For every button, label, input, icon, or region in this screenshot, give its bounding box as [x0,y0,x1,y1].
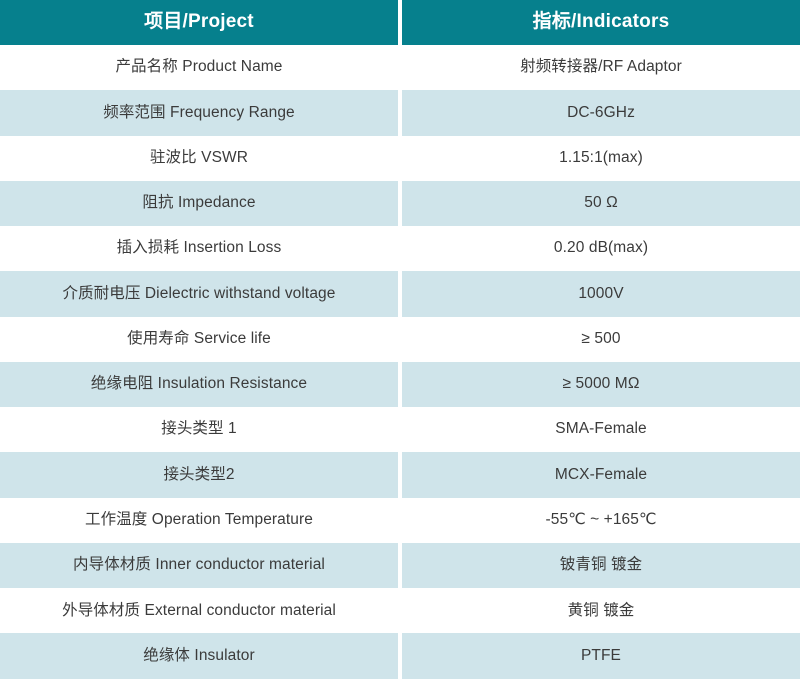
row-indicator-value: PTFE [402,633,800,678]
row-project-label: 接头类型 1 [0,407,398,452]
row-indicator-value: ≥ 5000 MΩ [402,362,800,407]
row-indicator-value: 1.15:1(max) [402,136,800,181]
table-row: 产品名称 Product Name 射频转接器/RF Adaptor [0,45,800,90]
row-project-label: 工作温度 Operation Temperature [0,498,398,543]
specification-table: 项目/Project 指标/Indicators 产品名称 Product Na… [0,0,800,679]
row-project-label: 插入损耗 Insertion Loss [0,226,398,271]
table-row: 频率范围 Frequency Range DC-6GHz [0,90,800,135]
row-indicator-value: 黄铜 镀金 [402,588,800,633]
table-row: 内导体材质 Inner conductor material 铍青铜 镀金 [0,543,800,588]
table-row: 接头类型 1 SMA-Female [0,407,800,452]
row-indicator-value: 50 Ω [402,181,800,226]
table-row: 外导体材质 External conductor material 黄铜 镀金 [0,588,800,633]
row-project-label: 内导体材质 Inner conductor material [0,543,398,588]
row-indicator-value: MCX-Female [402,452,800,497]
table-row: 工作温度 Operation Temperature -55℃ ~ +165℃ [0,498,800,543]
table-row: 插入损耗 Insertion Loss 0.20 dB(max) [0,226,800,271]
row-project-label: 驻波比 VSWR [0,136,398,181]
column-header-indicators: 指标/Indicators [402,0,800,45]
column-header-project: 项目/Project [0,0,398,45]
row-project-label: 外导体材质 External conductor material [0,588,398,633]
row-indicator-value: SMA-Female [402,407,800,452]
table-row: 绝缘体 Insulator PTFE [0,633,800,678]
table-row: 使用寿命 Service life ≥ 500 [0,317,800,362]
row-project-label: 接头类型2 [0,452,398,497]
row-indicator-value: DC-6GHz [402,90,800,135]
row-project-label: 介质耐电压 Dielectric withstand voltage [0,271,398,316]
row-project-label: 绝缘体 Insulator [0,633,398,678]
table-row: 介质耐电压 Dielectric withstand voltage 1000V [0,271,800,316]
row-project-label: 使用寿命 Service life [0,317,398,362]
row-indicator-value: 0.20 dB(max) [402,226,800,271]
row-indicator-value: 铍青铜 镀金 [402,543,800,588]
table-row: 绝缘电阻 Insulation Resistance ≥ 5000 MΩ [0,362,800,407]
row-indicator-value: -55℃ ~ +165℃ [402,498,800,543]
row-project-label: 频率范围 Frequency Range [0,90,398,135]
table-row: 驻波比 VSWR 1.15:1(max) [0,136,800,181]
table-header-row: 项目/Project 指标/Indicators [0,0,800,45]
table-row: 阻抗 Impedance 50 Ω [0,181,800,226]
row-indicator-value: 1000V [402,271,800,316]
row-indicator-value: ≥ 500 [402,317,800,362]
row-indicator-value: 射频转接器/RF Adaptor [402,45,800,90]
table-row: 接头类型2 MCX-Female [0,452,800,497]
row-project-label: 产品名称 Product Name [0,45,398,90]
row-project-label: 阻抗 Impedance [0,181,398,226]
row-project-label: 绝缘电阻 Insulation Resistance [0,362,398,407]
